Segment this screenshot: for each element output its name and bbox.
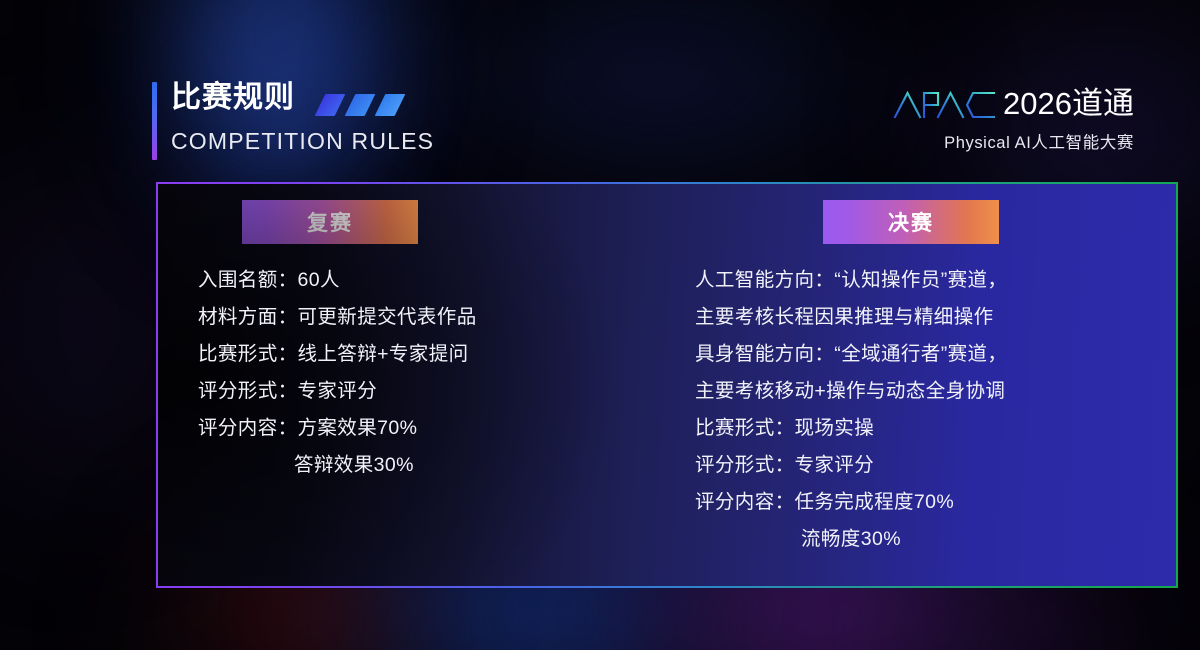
page-header: 比赛规则 COMPETITION RULES: [0, 0, 1200, 175]
list-item: 评分形式：专家评分: [695, 447, 1007, 484]
list-item: 评分形式：专家评分: [198, 373, 477, 410]
semifinal-rules-list: 入围名额：60人 材料方面：可更新提交代表作品 比赛形式：线上答辩+专家提问 评…: [198, 262, 477, 484]
slash-1-icon: [315, 94, 346, 116]
page-subtitle: COMPETITION RULES: [171, 128, 434, 155]
list-item: 答辩效果30%: [198, 447, 477, 484]
list-item: 具身智能方向：“全域通行者”赛道，: [695, 336, 1007, 373]
list-item: 比赛形式：现场实操: [695, 410, 1007, 447]
list-item: 比赛形式：线上答辩+专家提问: [198, 336, 477, 373]
list-item: 评分内容：方案效果70%: [198, 410, 477, 447]
list-item: 主要考核长程因果推理与精细操作: [695, 299, 1007, 336]
rules-panel: 复赛 入围名额：60人 材料方面：可更新提交代表作品 比赛形式：线上答辩+专家提…: [156, 182, 1178, 588]
page-title: 比赛规则: [171, 78, 295, 118]
slash-3-icon: [375, 94, 406, 116]
rules-panel-inner: 复赛 入围名额：60人 材料方面：可更新提交代表作品 比赛形式：线上答辩+专家提…: [158, 184, 1176, 586]
stage-badge-final: 决赛: [823, 200, 999, 244]
stage-badge-semifinal: 复赛: [242, 200, 418, 244]
list-item: 材料方面：可更新提交代表作品: [198, 299, 477, 336]
apac-logo-icon: [893, 86, 997, 122]
logo-subtitle: Physical AI人工智能大赛: [893, 129, 1134, 153]
slash-2-icon: [345, 94, 376, 116]
list-item: 评分内容：任务完成程度70%: [695, 484, 1007, 521]
list-item: 人工智能方向：“认知操作员”赛道，: [695, 262, 1007, 299]
list-item: 流畅度30%: [695, 521, 1007, 558]
list-item: 入围名额：60人: [198, 262, 477, 299]
logo-year-text: 2026道通: [1003, 86, 1134, 122]
final-rules-list: 人工智能方向：“认知操作员”赛道， 主要考核长程因果推理与精细操作 具身智能方向…: [695, 262, 1007, 558]
event-logo: 2026道通 Physical AI人工智能大赛: [893, 84, 1134, 153]
stage-badge-label: 复赛: [307, 207, 353, 237]
stage-badge-label: 决赛: [888, 207, 934, 237]
list-item: 主要考核移动+操作与动态全身协调: [695, 373, 1007, 410]
slash-decoration: [320, 94, 410, 118]
title-accent-bar: [152, 82, 157, 160]
